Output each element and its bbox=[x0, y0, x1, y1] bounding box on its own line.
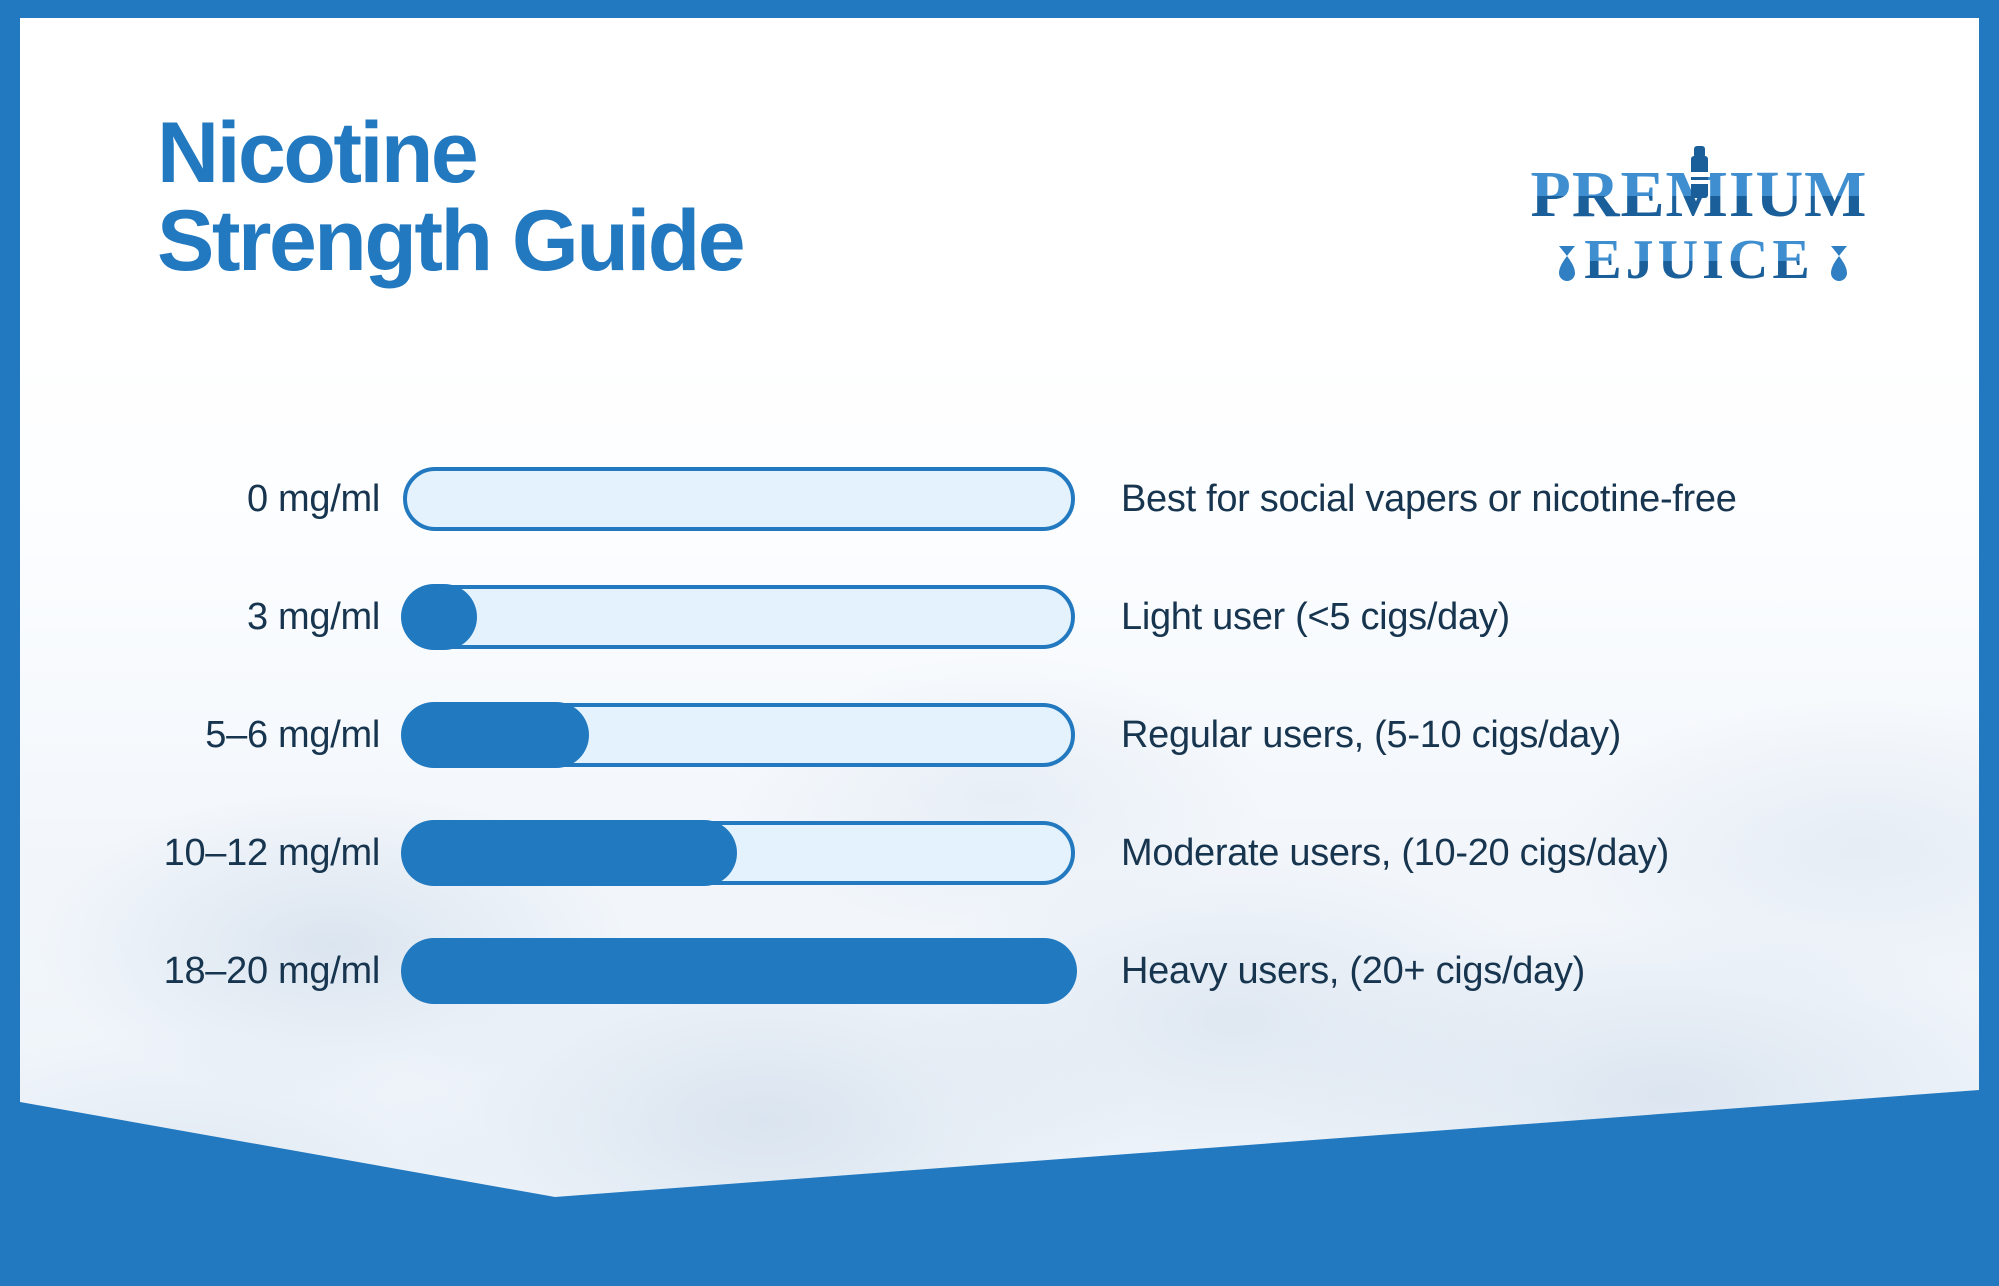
bottle-icon bbox=[1689, 146, 1710, 198]
strength-row: 10–12 mg/ml Moderate users, (10-20 cigs/… bbox=[20, 810, 1979, 928]
strength-description: Light user (<5 cigs/day) bbox=[1121, 574, 1510, 660]
bar-fill bbox=[401, 938, 1077, 1004]
strength-row: 5–6 mg/ml Regular users, (5-10 cigs/day) bbox=[20, 692, 1979, 810]
strength-row: 3 mg/ml Light user (<5 cigs/day) bbox=[20, 574, 1979, 692]
bar-fill bbox=[401, 702, 589, 768]
brand-logo: PREMIUM EJUICE bbox=[1499, 138, 1899, 298]
strength-bar bbox=[403, 703, 1075, 767]
strength-description: Moderate users, (10-20 cigs/day) bbox=[1121, 810, 1669, 896]
strength-description: Best for social vapers or nicotine-free bbox=[1121, 456, 1737, 542]
logo-ejuice-text: EJUICE bbox=[1584, 229, 1813, 291]
strength-label: 5–6 mg/ml bbox=[20, 692, 380, 778]
bar-track bbox=[403, 467, 1075, 531]
bottom-chevron-decoration bbox=[20, 1060, 1979, 1270]
strength-label: 3 mg/ml bbox=[20, 574, 380, 660]
page-title: Nicotine Strength Guide bbox=[157, 110, 743, 285]
infographic-card: Nicotine Strength Guide PREMIUM bbox=[20, 18, 1979, 1270]
droplet-icon bbox=[1559, 246, 1575, 281]
header: Nicotine Strength Guide PREMIUM bbox=[20, 18, 1979, 338]
bar-fill bbox=[401, 820, 737, 886]
bar-track bbox=[403, 585, 1075, 649]
poster-frame: Nicotine Strength Guide PREMIUM bbox=[0, 0, 1999, 1286]
strength-row: 0 mg/ml Best for social vapers or nicoti… bbox=[20, 456, 1979, 574]
strength-rows: 0 mg/ml Best for social vapers or nicoti… bbox=[20, 456, 1979, 1046]
strength-bar bbox=[403, 585, 1075, 649]
bar-fill bbox=[401, 584, 477, 650]
strength-bar bbox=[403, 821, 1075, 885]
strength-bar bbox=[403, 467, 1075, 531]
strength-row: 18–20 mg/ml Heavy users, (20+ cigs/day) bbox=[20, 928, 1979, 1046]
droplet-icon bbox=[1831, 246, 1847, 281]
strength-bar bbox=[403, 939, 1075, 1003]
strength-label: 0 mg/ml bbox=[20, 456, 380, 542]
strength-label: 10–12 mg/ml bbox=[20, 810, 380, 896]
strength-description: Regular users, (5-10 cigs/day) bbox=[1121, 692, 1621, 778]
strength-label: 18–20 mg/ml bbox=[20, 928, 380, 1014]
strength-description: Heavy users, (20+ cigs/day) bbox=[1121, 928, 1585, 1014]
